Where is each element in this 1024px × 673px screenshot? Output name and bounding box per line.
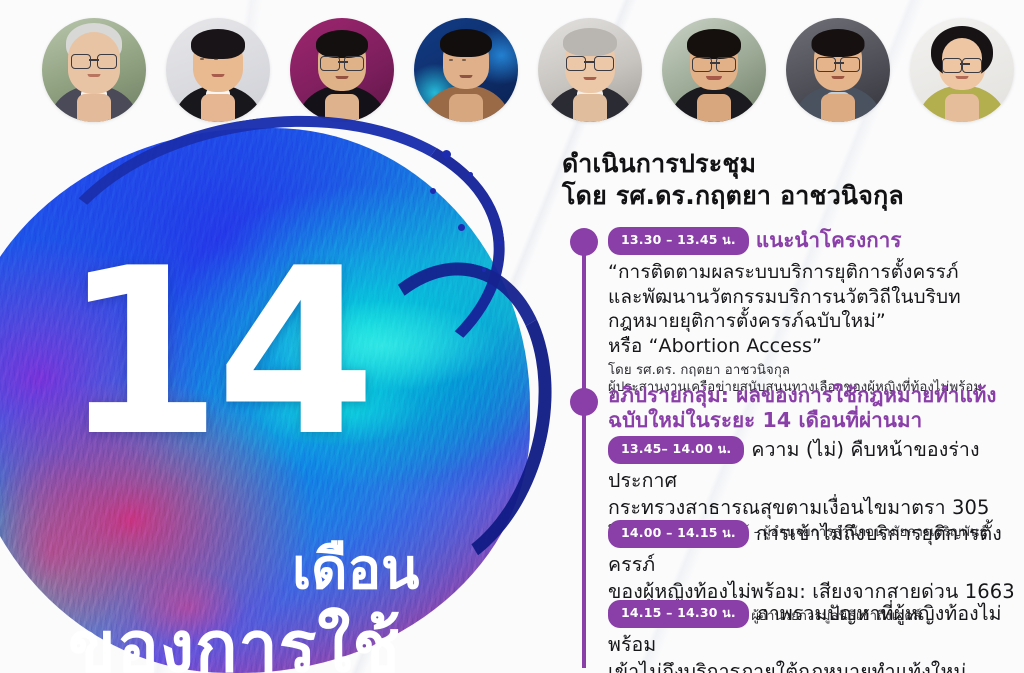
headline-number: 14 <box>62 260 370 449</box>
agenda-item-1-header: 13.30 – 13.45 น.แนะนำโครงการ <box>608 224 1024 257</box>
section-heading-line: ฉบับใหม่ในระยะ 14 เดือนที่ผ่านมา <box>608 408 1024 433</box>
timeline-node-1 <box>570 228 598 256</box>
headline-line-2: ของการใช้ <box>68 612 401 673</box>
quote-line: และพัฒนานวัตกรรมบริการนวัตวิถีในบริบท <box>608 285 1024 310</box>
headline-group: 14 เดือน ของการใช้ กฎหมายทำแท้งฉบับใหม่ … <box>0 150 560 670</box>
quote-line: หรือ “Abortion Access” <box>608 334 1024 359</box>
portrait-4-woman-short-hair-blue-backdrop <box>414 18 518 122</box>
portrait-2-man-suit-tie <box>166 18 270 122</box>
agenda-item-2-header: 13.45– 14.00 น.ความ (ไม่) คืบหน้าของร่าง… <box>608 434 1024 496</box>
agenda-item-1-heading: แนะนำโครงการ <box>756 228 902 252</box>
time-badge: 13.45– 14.00 น. <box>608 436 744 464</box>
agenda-title: ดำเนินการประชุม โดย รศ.ดร.กฤตยา อาชวนิจก… <box>562 148 1012 212</box>
headline-unit-month: เดือน <box>292 542 419 598</box>
agenda-item-4-title-line-2: เข้าไม่ถึงบริการภายใต้กฎหมายทำแท้งใหม่ <box>608 660 1024 673</box>
timeline-node-2 <box>570 388 598 416</box>
agenda-title-line-1: ดำเนินการประชุม <box>562 148 1012 180</box>
agenda-item-4-header: 14.15 – 14.30 น.ภาพรวมปัญหาที่ผู้หญิงท้อ… <box>608 598 1024 660</box>
time-badge: 14.00 – 14.15 น. <box>608 520 749 548</box>
timeline-rail <box>582 232 586 668</box>
time-badge: 13.30 – 13.45 น. <box>608 227 749 255</box>
agenda-item-3-header: 14.00 – 14.15 น.การเข้าไม่ถึงบริการยุติก… <box>608 518 1024 580</box>
section-heading-line: อภิปรายกลุ่ม: ผลของการใช้กฎหมายทำแท้ง <box>608 383 1024 408</box>
byline-line: โดย รศ.ดร. กฤตยา อาชวนิจกุล <box>608 362 1024 380</box>
agenda-title-line-2: โดย รศ.ดร.กฤตยา อาชวนิจกุล <box>562 180 1012 212</box>
agenda-item-1-quote: “การติดตามผลระบบบริการยุติการตั้งครรภ์ แ… <box>608 260 1024 359</box>
agenda-item-4[interactable]: 14.15 – 14.30 น.ภาพรวมปัญหาที่ผู้หญิงท้อ… <box>608 598 1024 673</box>
agenda-section-heading: อภิปรายกลุ่ม: ผลของการใช้กฎหมายทำแท้ง ฉบ… <box>608 383 1024 433</box>
portrait-1-elder-woman-glasses <box>42 18 146 122</box>
quote-line: กฎหมายยุติการตั้งครรภ์ฉบับใหม่” <box>608 309 1024 334</box>
portrait-3-man-glasses-magenta-backdrop <box>290 18 394 122</box>
quote-line: “การติดตามผลระบบบริการยุติการตั้งครรภ์ <box>608 260 1024 285</box>
agenda-item-1[interactable]: 13.30 – 13.45 น.แนะนำโครงการ “การติดตามผ… <box>608 224 1024 397</box>
agenda-panel: ดำเนินการประชุม โดย รศ.ดร.กฤตยา อาชวนิจก… <box>552 0 1024 673</box>
time-badge: 14.15 – 14.30 น. <box>608 600 749 628</box>
poster-canvas: 14 เดือน ของการใช้ กฎหมายทำแท้งฉบับใหม่ … <box>0 0 1024 673</box>
